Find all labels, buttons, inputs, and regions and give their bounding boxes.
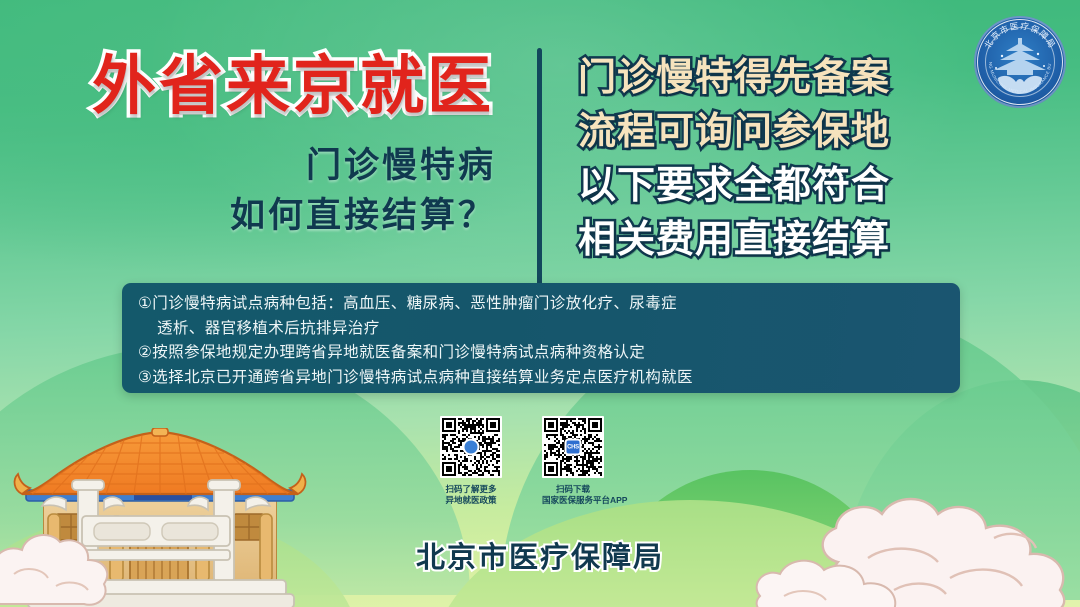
column-divider [537, 48, 542, 286]
qr-code-app-badge: CHS [565, 439, 582, 456]
info-line-1: ①门诊慢特病试点病种包括：高血压、糖尿病、恶性肿瘤门诊放化疗、尿毒症 [138, 292, 944, 317]
qr-policy-caption-line-1: 扫码了解更多 [440, 484, 502, 495]
info-line-3: ③选择北京已开通跨省异地门诊慢特病试点病种直接结算业务定点医疗机构就医 [138, 366, 944, 391]
subtitle-line-2: 如何直接结算？ [78, 191, 496, 241]
page-subtitle: 门诊慢特病 如何直接结算？ [78, 141, 518, 240]
qr-policy-caption-line-2: 异地就医政策 [440, 495, 502, 506]
page-title: 外省来京就医 [78, 52, 518, 121]
subtitle-line-1: 门诊慢特病 [78, 141, 496, 191]
right-headline-block: 门诊慢特得先备案 流程可询问参保地 以下要求全都符合 相关费用直接结算 [578, 52, 948, 268]
qr-code-policy-badge [463, 439, 480, 456]
qr-code-group: 扫码了解更多 异地就医政策 CHS 扫码下载 国家医保服务平台APP [440, 416, 604, 506]
info-line-1-continued: 透析、器官移植术后抗排异治疗 [138, 317, 944, 342]
right-headline-line-1: 门诊慢特得先备案 [578, 52, 948, 106]
right-headline-line-2: 流程可询问参保地 [578, 106, 948, 160]
qr-app-caption-line-1: 扫码下载 [542, 484, 604, 495]
qr-code-app[interactable]: CHS [542, 416, 604, 478]
requirements-info-box: ①门诊慢特病试点病种包括：高血压、糖尿病、恶性肿瘤门诊放化疗、尿毒症 透析、器官… [122, 283, 960, 393]
qr-app-caption-line-2: 国家医保服务平台APP [542, 495, 604, 506]
info-line-2: ②按照参保地规定办理跨省异地就医备案和门诊慢特病试点病种资格认定 [138, 341, 944, 366]
beijing-medical-insurance-bureau-logo: 北京市医疗保障局 BEIJING MUNICIPAL MEDICAL INSUR… [974, 16, 1066, 108]
qr-code-item-app[interactable]: CHS 扫码下载 国家医保服务平台APP [542, 416, 604, 506]
right-headline-line-4: 相关费用直接结算 [578, 214, 948, 268]
qr-code-item-policy[interactable]: 扫码了解更多 异地就医政策 [440, 416, 502, 506]
left-headline-block: 外省来京就医 门诊慢特病 如何直接结算？ [78, 52, 518, 240]
qr-code-policy[interactable] [440, 416, 502, 478]
poster-root: 北京市医疗保障局 BEIJING MUNICIPAL MEDICAL INSUR… [0, 0, 1080, 607]
right-headline-line-3: 以下要求全都符合 [578, 160, 948, 214]
qr-code-policy-caption: 扫码了解更多 异地就医政策 [440, 484, 502, 506]
qr-code-app-caption: 扫码下载 国家医保服务平台APP [542, 484, 604, 506]
organization-name: 北京市医疗保障局 [0, 534, 1080, 576]
